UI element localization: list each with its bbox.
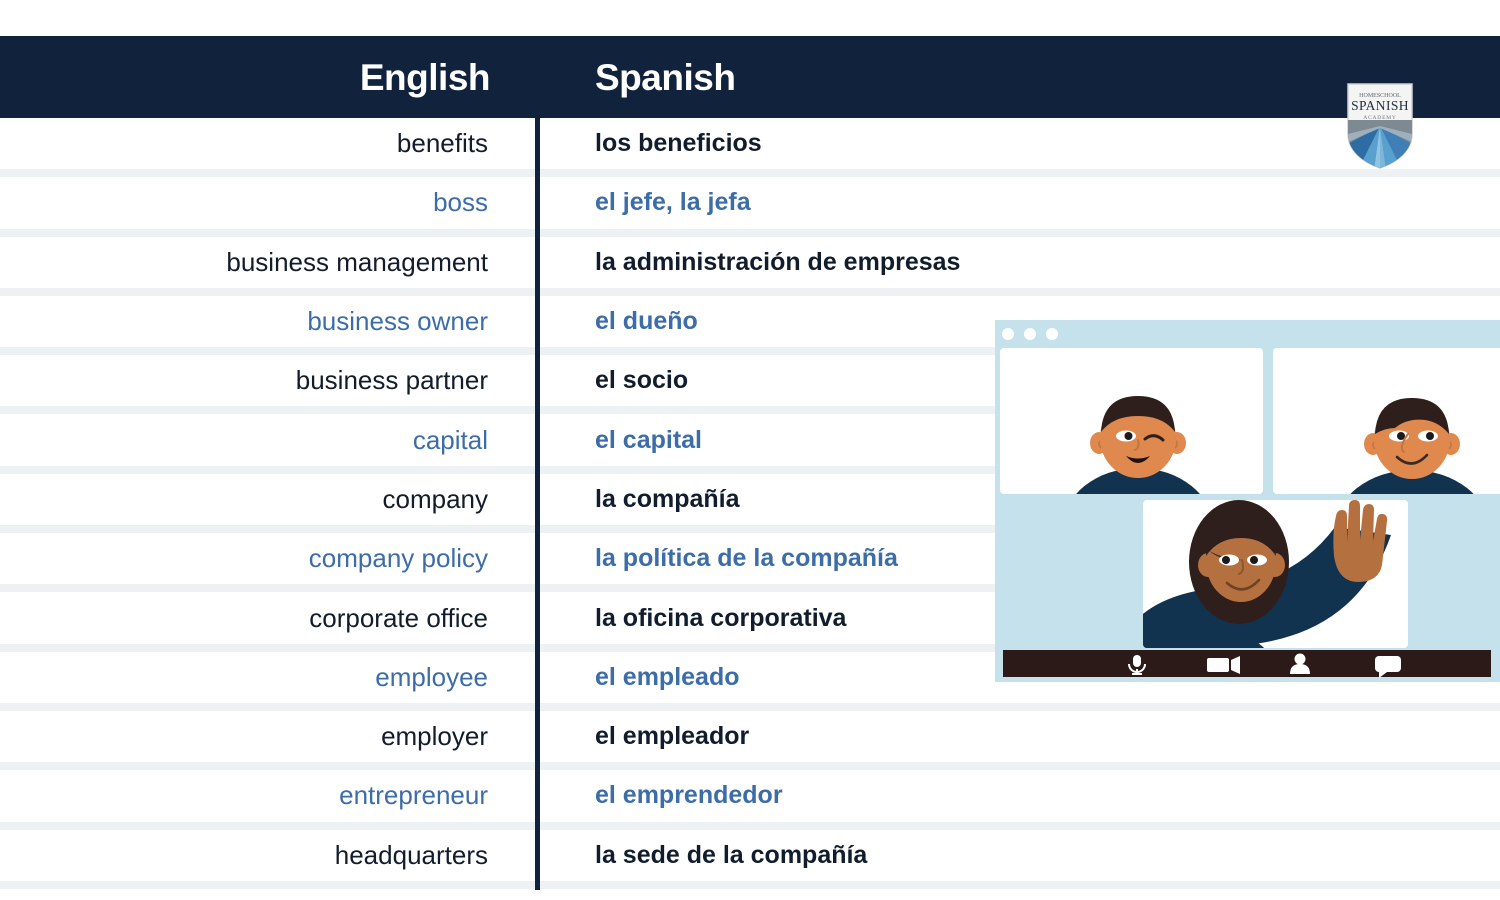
cell-english: company policy xyxy=(0,533,536,584)
cell-english: business management xyxy=(0,237,536,288)
logo-line-spanish: SPANISH xyxy=(1351,98,1409,113)
video-camera-icon xyxy=(1207,656,1240,674)
cell-english: benefits xyxy=(0,118,536,169)
row-separator xyxy=(0,288,1500,296)
row-separator xyxy=(0,169,1500,177)
table-header-bar: English Spanish xyxy=(0,36,1500,118)
cell-spanish: la administración de empresas xyxy=(560,237,1180,288)
row-separator xyxy=(0,881,1500,889)
cell-english: capital xyxy=(0,414,536,465)
table-row: business managementla administración de … xyxy=(0,237,1500,288)
row-separator xyxy=(0,762,1500,770)
cell-spanish: el empleador xyxy=(560,711,1180,762)
cell-english: boss xyxy=(0,177,536,228)
vocabulary-table-page: English Spanish xyxy=(0,0,1500,900)
video-call-toolbar xyxy=(1003,650,1491,678)
cell-spanish: los beneficios xyxy=(560,118,1180,169)
cell-spanish: el jefe, la jefa xyxy=(560,177,1180,228)
header-label-spanish: Spanish xyxy=(595,59,735,96)
cell-english: employer xyxy=(0,711,536,762)
cell-spanish: el gerente xyxy=(560,889,1180,900)
video-call-illustration xyxy=(995,320,1500,682)
cell-english: company xyxy=(0,474,536,525)
window-dot-3 xyxy=(1046,328,1058,340)
cell-english: corporate office xyxy=(0,592,536,643)
cell-english: employee xyxy=(0,652,536,703)
row-separator xyxy=(0,822,1500,830)
cell-english: entrepreneur xyxy=(0,770,536,821)
cell-spanish: el emprendedor xyxy=(560,770,1180,821)
window-dot-1 xyxy=(1002,328,1014,340)
cell-spanish: la sede de la compañía xyxy=(560,830,1180,881)
table-row: managerel gerente xyxy=(0,889,1500,900)
table-row: entrepreneurel emprendedor xyxy=(0,770,1500,821)
header-column-spanish: Spanish xyxy=(560,36,1060,118)
cell-english: business partner xyxy=(0,355,536,406)
row-separator xyxy=(0,229,1500,237)
header-label-english: English xyxy=(360,59,490,96)
table-row: employerel empleador xyxy=(0,711,1500,762)
cell-english: headquarters xyxy=(0,830,536,881)
table-row: bossel jefe, la jefa xyxy=(0,177,1500,228)
column-divider xyxy=(535,118,540,890)
table-row: headquartersla sede de la compañía xyxy=(0,830,1500,881)
cell-english: business owner xyxy=(0,296,536,347)
header-column-english: English xyxy=(0,36,536,118)
window-dot-2 xyxy=(1024,328,1036,340)
cell-english: manager xyxy=(0,889,536,900)
row-separator xyxy=(0,703,1500,711)
table-row: benefitslos beneficios xyxy=(0,118,1500,169)
